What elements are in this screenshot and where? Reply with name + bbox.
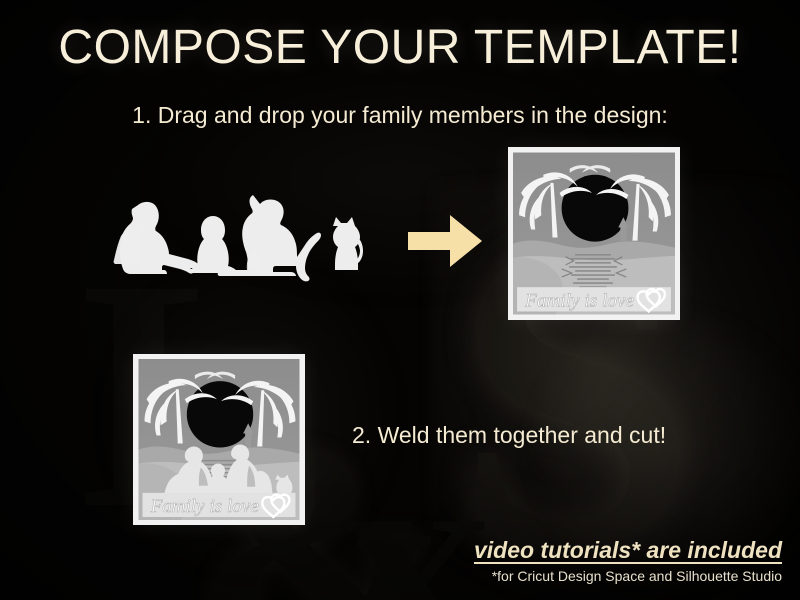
vignette-overlay bbox=[0, 0, 800, 600]
background-decoration: L S & X bbox=[0, 0, 800, 600]
cat-sitting-silhouette bbox=[333, 217, 363, 270]
page-title: COMPOSE YOUR TEMPLATE! bbox=[0, 20, 800, 75]
watermark-letter-x: X bbox=[330, 480, 496, 600]
slide-canvas: L S & X COMPOSE YOUR TEMPLATE! 1. Drag a… bbox=[0, 0, 800, 600]
promo-headline: video tutorials* are included bbox=[474, 537, 782, 564]
arrow-right-icon bbox=[406, 212, 484, 275]
woman-sitting-silhouette bbox=[114, 202, 203, 274]
template-caption-tr: Family is love bbox=[524, 290, 634, 311]
template-composed-card[interactable]: Family is love bbox=[133, 354, 305, 525]
promo-footnote: *for Cricut Design Space and Silhouette … bbox=[492, 568, 782, 584]
template-blank-card[interactable]: Family is love bbox=[508, 147, 680, 320]
template-caption-bl: Family is love bbox=[150, 496, 260, 517]
step-2-instruction: 2. Weld them together and cut! bbox=[352, 422, 666, 449]
step-1-instruction: 1. Drag and drop your family members in … bbox=[0, 102, 800, 129]
family-silhouette-group bbox=[108, 192, 368, 287]
